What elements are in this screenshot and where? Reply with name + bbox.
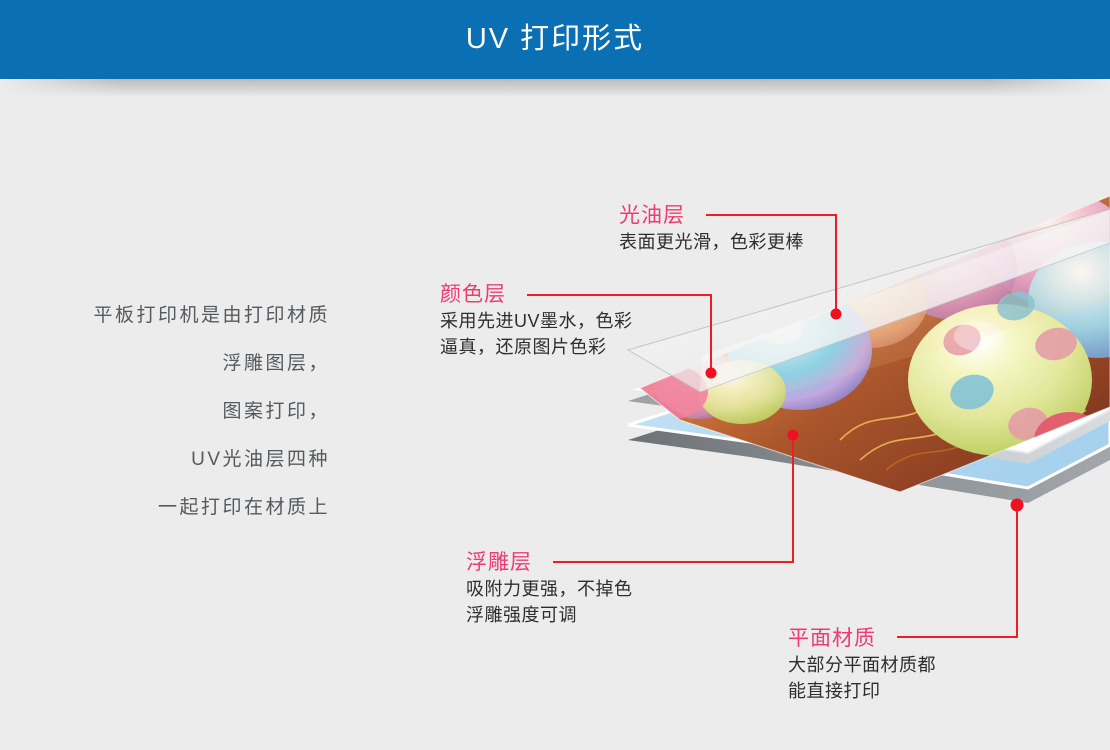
callout-flat-desc-1: 大部分平面材质都 — [788, 652, 936, 678]
page-header: UV 打印形式 — [0, 0, 1110, 79]
header-shadow — [0, 79, 1110, 105]
callout-varnish-title: 光油层 — [619, 203, 804, 229]
callout-color-desc-1: 采用先进UV墨水，色彩 — [440, 308, 633, 334]
left-description-line-2: 浮雕图层， — [40, 340, 330, 388]
left-description-line-1: 平板打印机是由打印材质 — [40, 292, 330, 340]
callout-color-title: 颜色层 — [440, 282, 633, 308]
callout-color-desc-2: 逼真，还原图片色彩 — [440, 334, 633, 360]
dot-flat — [1011, 499, 1024, 512]
dot-emboss — [788, 430, 799, 441]
callout-flat: 平面材质 大部分平面材质都 能直接打印 — [788, 626, 936, 704]
callout-emboss-title: 浮雕层 — [466, 550, 633, 576]
left-description-line-5: 一起打印在材质上 — [40, 484, 330, 532]
callout-color: 颜色层 采用先进UV墨水，色彩 逼真，还原图片色彩 — [440, 282, 633, 360]
page-root: UV 打印形式 — [0, 0, 1110, 750]
callout-flat-desc-2: 能直接打印 — [788, 678, 936, 704]
callout-varnish-desc-1: 表面更光滑，色彩更棒 — [619, 229, 804, 255]
callout-flat-title: 平面材质 — [788, 626, 936, 652]
left-description-line-4: UV光油层四种 — [40, 436, 330, 484]
callout-emboss: 浮雕层 吸附力更强，不掉色 浮雕强度可调 — [466, 550, 633, 628]
callout-emboss-desc-2: 浮雕强度可调 — [466, 602, 633, 628]
dot-varnish — [831, 309, 842, 320]
left-description-line-3: 图案打印， — [40, 388, 330, 436]
callout-emboss-desc-1: 吸附力更强，不掉色 — [466, 576, 633, 602]
left-description: 平板打印机是由打印材质 浮雕图层， 图案打印， UV光油层四种 一起打印在材质上 — [40, 292, 330, 532]
leader-flat — [897, 507, 1017, 637]
dot-color — [706, 368, 717, 379]
page-title: UV 打印形式 — [466, 25, 644, 54]
callout-varnish: 光油层 表面更光滑，色彩更棒 — [619, 203, 804, 255]
